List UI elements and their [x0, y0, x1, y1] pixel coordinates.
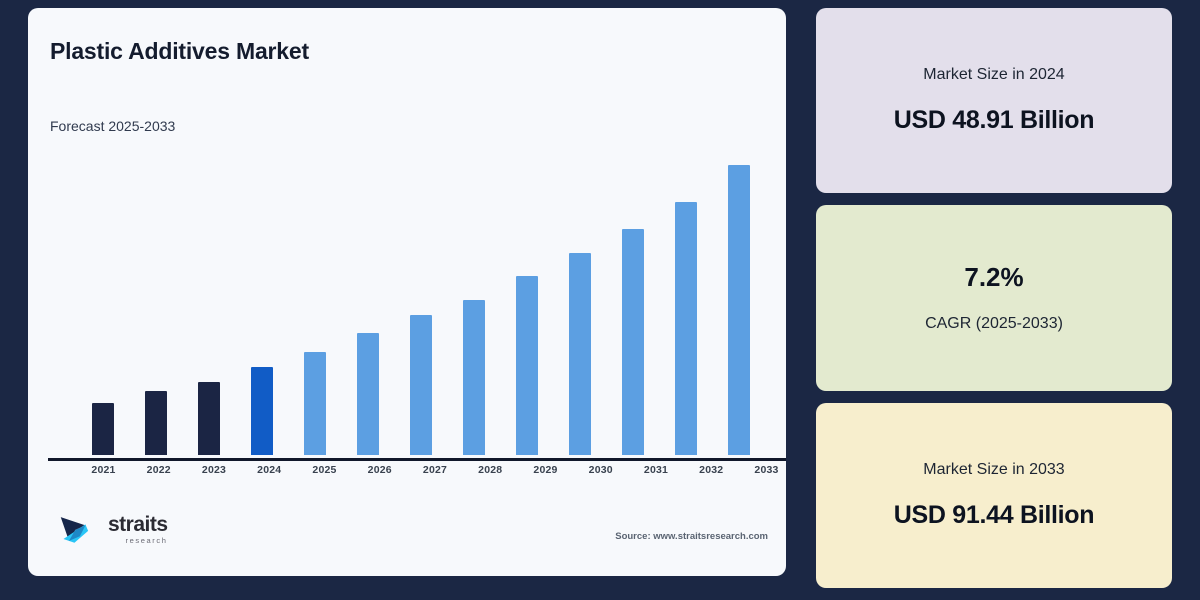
x-label-2030: 2030	[573, 464, 628, 484]
bar-2032	[675, 202, 697, 455]
bar-2025	[304, 352, 326, 455]
bar-slot	[341, 155, 394, 455]
bar-slot	[235, 155, 288, 455]
bar-slot	[554, 155, 607, 455]
bar-slot	[182, 155, 235, 455]
x-label-2024: 2024	[242, 464, 297, 484]
x-label-2023: 2023	[187, 464, 242, 484]
kpi-card-1: Market Size in 2024USD 48.91 Billion	[816, 8, 1172, 193]
kpi-card-list: Market Size in 2024USD 48.91 Billion7.2%…	[816, 8, 1172, 588]
bar-2033	[728, 165, 750, 455]
chart-subtitle: Forecast 2025-2033	[50, 118, 175, 134]
bar-2030	[569, 253, 591, 455]
bar-2024	[251, 367, 273, 455]
bar-slot	[607, 155, 660, 455]
x-label-2028: 2028	[463, 464, 518, 484]
page-title: Plastic Additives Market	[50, 38, 309, 65]
kpi-card-2: 7.2%CAGR (2025-2033)	[816, 205, 1172, 390]
bar-slot	[129, 155, 182, 455]
bar-2021	[92, 403, 114, 455]
logo-subword: research	[108, 537, 168, 545]
kpi-card-label: Market Size in 2033	[923, 461, 1064, 479]
kpi-card-label: CAGR (2025-2033)	[925, 315, 1063, 333]
kpi-card-3: Market Size in 2033USD 91.44 Billion	[816, 403, 1172, 588]
bar-2028	[463, 300, 485, 455]
source-attribution: Source: www.straitsresearch.com	[615, 531, 768, 542]
kpi-card-value: 7.2%	[964, 262, 1023, 293]
bar-slot	[713, 155, 766, 455]
infographic-root: Plastic Additives Market Forecast 2025-2…	[0, 0, 1200, 600]
bar-slot	[394, 155, 447, 455]
x-label-2022: 2022	[131, 464, 186, 484]
bar-2026	[357, 333, 379, 455]
x-label-2031: 2031	[629, 464, 684, 484]
straits-arrow-logo-icon	[58, 508, 100, 550]
logo-text: straits research	[108, 514, 168, 545]
bar-slot	[501, 155, 554, 455]
bar-2027	[410, 315, 432, 455]
x-label-2032: 2032	[684, 464, 739, 484]
bar-chart-plot	[48, 148, 786, 463]
x-label-2025: 2025	[297, 464, 352, 484]
bar-series	[76, 155, 766, 455]
x-axis-line	[48, 458, 786, 461]
bar-2031	[622, 229, 644, 455]
x-label-2021: 2021	[76, 464, 131, 484]
x-label-2027: 2027	[408, 464, 463, 484]
x-axis-tick-labels: 2021202220232024202520262027202820292030…	[76, 464, 786, 484]
bar-slot	[76, 155, 129, 455]
brand-logo: straits research	[58, 508, 168, 550]
bar-2023	[198, 382, 220, 455]
x-label-2033: 2033	[739, 464, 786, 484]
x-label-2029: 2029	[518, 464, 573, 484]
kpi-card-label: Market Size in 2024	[923, 66, 1064, 84]
bar-2029	[516, 276, 538, 455]
x-label-2026: 2026	[352, 464, 407, 484]
logo-word: straits	[108, 514, 168, 535]
bar-2022	[145, 391, 167, 455]
bar-slot	[288, 155, 341, 455]
bar-slot	[660, 155, 713, 455]
kpi-card-value: USD 48.91 Billion	[894, 106, 1095, 135]
chart-panel: Plastic Additives Market Forecast 2025-2…	[28, 8, 786, 576]
bar-slot	[448, 155, 501, 455]
kpi-card-value: USD 91.44 Billion	[894, 501, 1095, 530]
